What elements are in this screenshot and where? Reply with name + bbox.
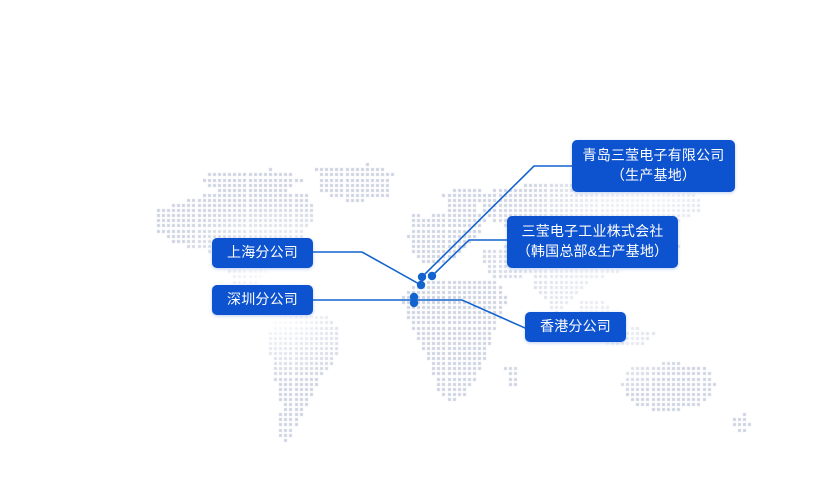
world-map-infographic: 青岛三莹电子有限公司 （生产基地） 三莹电子工业株式会社 （韩国总部&生产基地）… [0, 0, 824, 480]
connector-lines-layer [0, 0, 824, 480]
label-korea-line2: （韩国总部&生产基地） [517, 242, 669, 262]
label-qingdao-line2: （生产基地） [611, 166, 696, 186]
label-qingdao-production-base[interactable]: 青岛三莹电子有限公司 （生产基地） [572, 140, 735, 192]
label-shanghai-branch[interactable]: 上海分公司 [212, 238, 313, 268]
label-shanghai-text: 上海分公司 [227, 243, 298, 263]
label-qingdao-line1: 青岛三莹电子有限公司 [583, 146, 725, 166]
connector-line-korea [432, 240, 507, 276]
label-shenzhen-text: 深圳分公司 [227, 290, 298, 310]
label-korea-headquarters[interactable]: 三莹电子工业株式会社 （韩国总部&生产基地） [507, 216, 678, 268]
connector-line-shanghai [313, 252, 421, 285]
map-marker-qingdao [418, 273, 426, 281]
map-marker-shanghai [417, 281, 425, 289]
label-hongkong-branch[interactable]: 香港分公司 [525, 312, 626, 342]
map-marker-hongkong [410, 299, 418, 307]
map-marker-korea [428, 272, 436, 280]
label-shenzhen-branch[interactable]: 深圳分公司 [212, 285, 313, 315]
label-korea-line1: 三莹电子工业株式会社 [522, 222, 664, 242]
connector-line-hongkong [414, 300, 525, 328]
label-hongkong-text: 香港分公司 [540, 317, 611, 337]
